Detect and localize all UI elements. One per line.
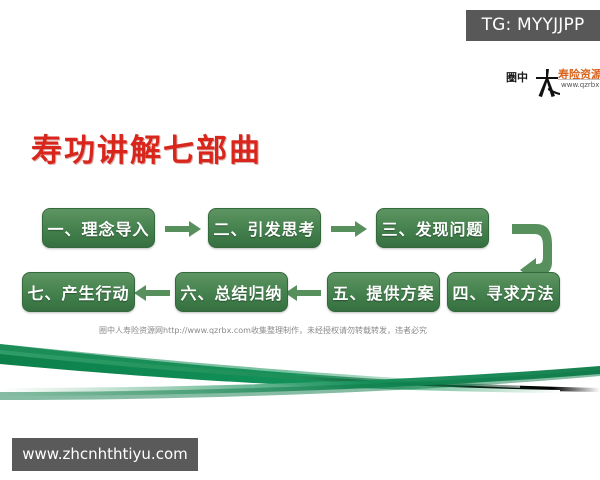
- copyright-footnote: 圈中人寿险资源网http://www.qzrbx.com收集整理制作，未经授权请…: [99, 325, 427, 336]
- page-title: 寿功讲解七部曲: [31, 125, 262, 170]
- slide-canvas: TG: MYYJJPP 圈中 寿险资源网 www.qzrbx.com 寿功讲解七…: [0, 0, 600, 480]
- arrow-step5-to-step6: [284, 282, 322, 304]
- logo-divider: [558, 79, 600, 80]
- flow-step-1[interactable]: 一、理念导入: [42, 208, 155, 248]
- arrow-step2-to-step3: [330, 218, 368, 240]
- flow-step-4[interactable]: 四、寻求方法: [447, 272, 560, 312]
- logo-url: www.qzrbx.com: [561, 81, 600, 89]
- logo-name-cn: 圈中: [506, 71, 528, 84]
- flow-step-3[interactable]: 三、发现问题: [376, 208, 489, 248]
- tg-watermark-badge: TG: MYYJJPP: [466, 10, 600, 41]
- flow-step-5[interactable]: 五、提供方案: [327, 272, 440, 312]
- bottom-watermark: www.zhcnhthtiyu.com: [12, 438, 198, 471]
- person-glyph-icon: [534, 68, 560, 98]
- flow-step-7[interactable]: 七、产生行动: [22, 272, 135, 312]
- flow-step-6[interactable]: 六、总结归纳: [175, 272, 288, 312]
- decorative-swoosh: [0, 330, 600, 420]
- flow-step-2[interactable]: 二、引发思考: [208, 208, 321, 248]
- site-logo: 圈中 寿险资源网 www.qzrbx.com: [506, 66, 598, 100]
- arrow-step6-to-step7: [133, 282, 171, 304]
- arrow-step1-to-step2: [164, 218, 202, 240]
